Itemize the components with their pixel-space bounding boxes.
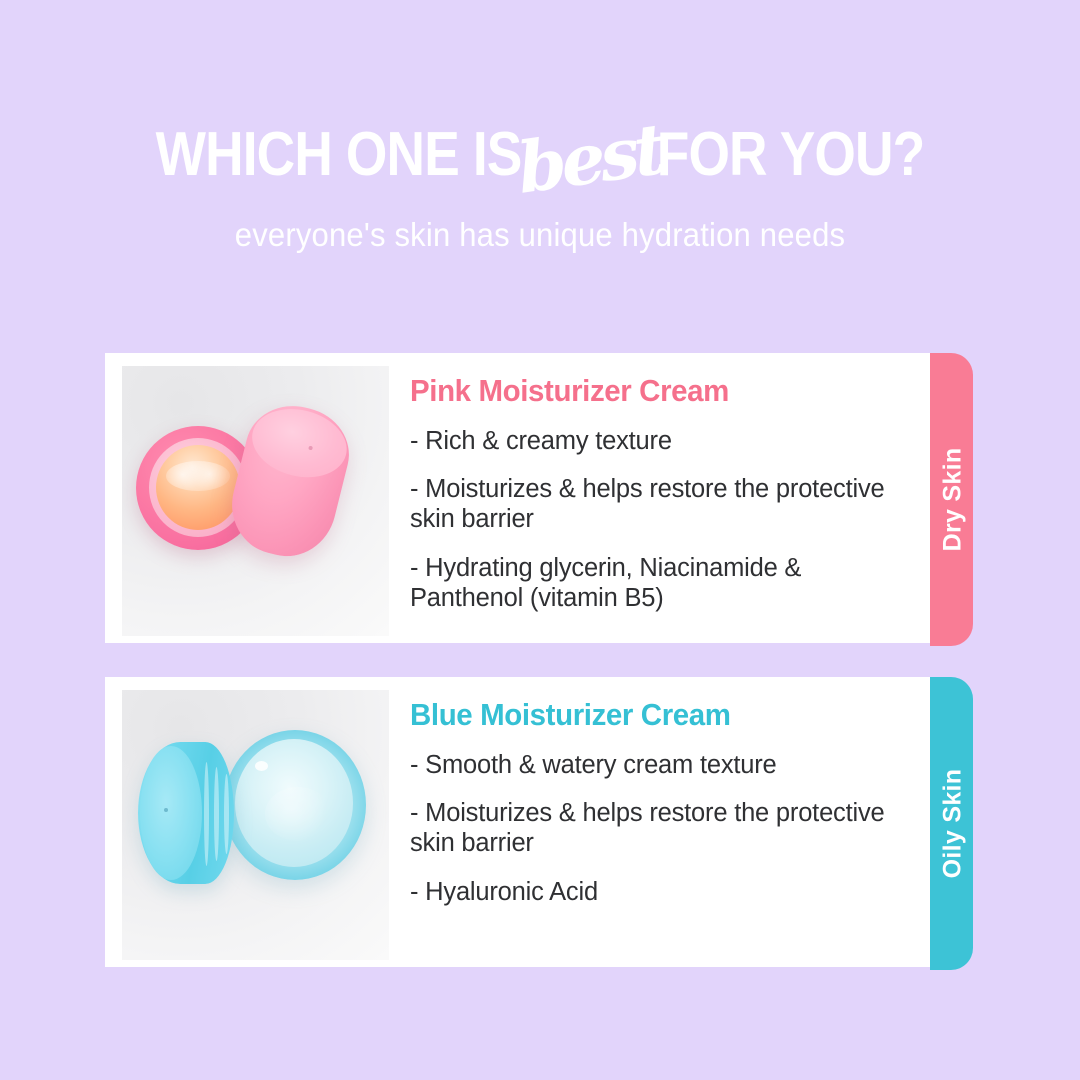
page-subtitle: everyone's skin has unique hydration nee…: [32, 216, 1047, 254]
product-card-pink[interactable]: Dry Skin Pink Moisturizer Cream - Rich &…: [105, 353, 973, 646]
blue-lid-thread: [204, 762, 209, 866]
pink-cream-surface: [156, 445, 240, 530]
feature-bullet: - Rich & creamy texture: [410, 427, 910, 457]
headline-part-2: FOR YOU?: [657, 124, 925, 186]
blue-gel-sheen: [265, 787, 331, 841]
blue-lid-top-face: [140, 746, 202, 880]
card-body-blue: Blue Moisturizer Cream - Smooth & watery…: [389, 677, 930, 967]
product-image-blue: [122, 690, 389, 960]
feature-bullet: - Hyaluronic Acid: [410, 878, 910, 908]
blue-gel-surface: [235, 739, 353, 867]
pink-jar-inner-ring: [149, 438, 247, 537]
card-surface-pink: Pink Moisturizer Cream - Rich & creamy t…: [105, 353, 930, 643]
blue-gel-bubble: [255, 761, 268, 771]
skin-type-tab-oily-label: Oily Skin: [938, 769, 967, 879]
product-title-pink: Pink Moisturizer Cream: [410, 375, 885, 408]
card-body-pink: Pink Moisturizer Cream - Rich & creamy t…: [389, 353, 930, 643]
card-surface-blue: Blue Moisturizer Cream - Smooth & watery…: [105, 677, 930, 967]
blue-jar-base-icon: [224, 730, 366, 880]
blue-jar-lid-icon: [138, 742, 234, 884]
feature-bullet: - Moisturizes & helps restore the protec…: [410, 475, 910, 535]
pink-cream-swirl: [166, 461, 230, 491]
product-card-blue[interactable]: Oily Skin Blue Moisturizer Cream - Smoot…: [105, 677, 973, 970]
product-image-pink: [122, 366, 389, 636]
feature-bullet: - Hydrating glycerin, Niacinamide & Pant…: [410, 554, 910, 614]
headline-part-1: WHICH ONE IS: [156, 124, 522, 186]
skin-type-tab-oily[interactable]: Oily Skin: [930, 677, 973, 970]
blue-lid-thread: [224, 774, 229, 854]
page-title: WHICH ONE ISbestFOR YOU?: [76, 120, 1005, 190]
blue-lid-speck: [164, 808, 168, 812]
skin-type-tab-dry[interactable]: Dry Skin: [930, 353, 973, 646]
product-title-blue: Blue Moisturizer Cream: [410, 699, 885, 732]
blue-lid-thread: [214, 767, 219, 861]
skin-type-tab-dry-label: Dry Skin: [938, 448, 967, 552]
headline-script-word: best: [508, 113, 670, 205]
feature-bullet: - Moisturizes & helps restore the protec…: [410, 799, 910, 859]
feature-bullet: - Smooth & watery cream texture: [410, 751, 910, 781]
header-block: WHICH ONE ISbestFOR YOU? everyone's skin…: [0, 120, 1080, 254]
